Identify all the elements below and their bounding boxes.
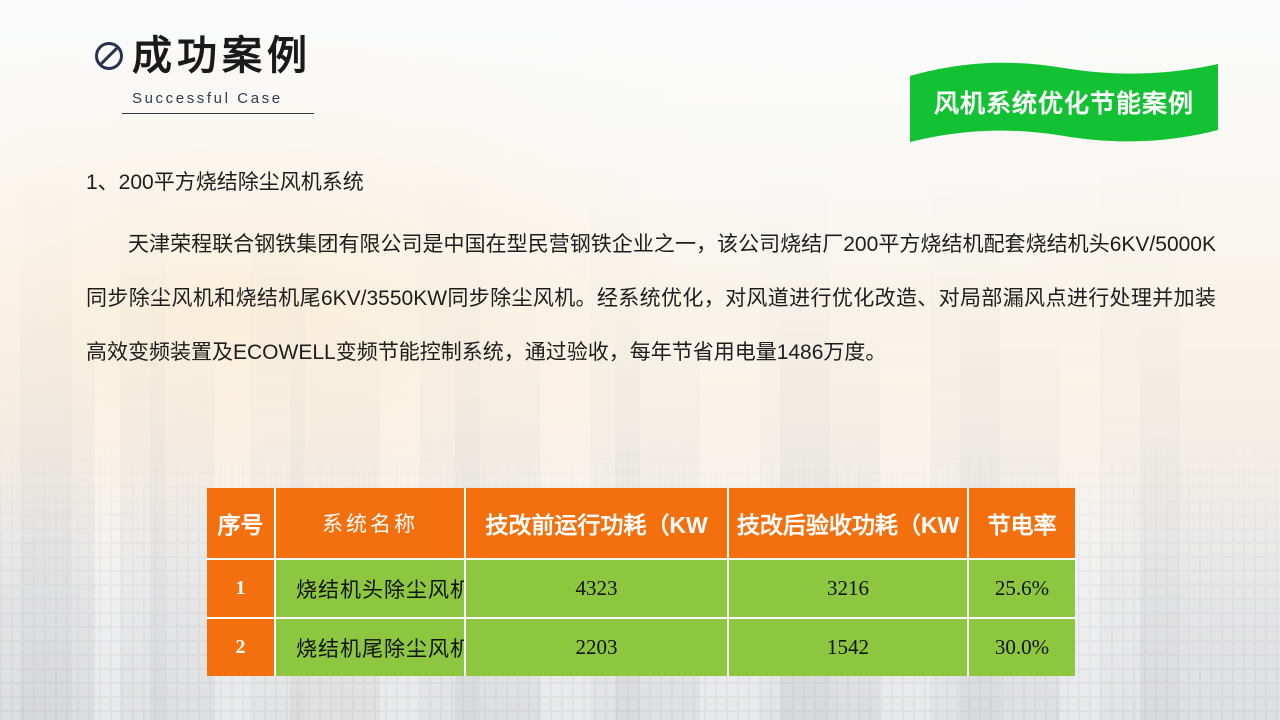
row-name: 烧结机尾除尘风机 — [276, 619, 466, 676]
table-row: 1 烧结机头除尘风机 4323 3216 25.6% — [207, 560, 1075, 619]
table-header-before: 技改前运行功耗（KW — [466, 488, 729, 560]
table-row: 2 烧结机尾除尘风机 2203 1542 30.0% — [207, 619, 1075, 676]
table-header-after: 技改后验收功耗（KW — [729, 488, 969, 560]
row-index: 1 — [207, 560, 276, 619]
row-saving: 25.6% — [969, 560, 1075, 619]
row-before: 2203 — [466, 619, 729, 676]
title-underline — [122, 113, 314, 114]
row-after: 1542 — [729, 619, 969, 676]
row-saving: 30.0% — [969, 619, 1075, 676]
page-title: 成功案例 — [132, 36, 312, 76]
body-copy: 1、200平方烧结除尘风机系统 天津荣程联合钢铁集团有限公司是中国在型民营钢铁企… — [86, 168, 1216, 380]
section-paragraph: 天津荣程联合钢铁集团有限公司是中国在型民营钢铁企业之一，该公司烧结厂200平方烧… — [86, 218, 1216, 380]
row-name: 烧结机头除尘风机 — [276, 560, 466, 619]
row-before: 4323 — [466, 560, 729, 619]
presentation-slide: 成功案例 Successful Case 风机系统优化节能案例 1、200平方烧… — [0, 0, 1280, 720]
page-subtitle: Successful Case — [132, 90, 422, 107]
row-after: 3216 — [729, 560, 969, 619]
ribbon-label: 风机系统优化节能案例 — [906, 84, 1222, 120]
table-header-saving: 节电率 — [969, 488, 1075, 560]
circle-slash-icon — [92, 39, 126, 73]
results-table: 序号 系统名称 技改前运行功耗（KW 技改后验收功耗（KW 节电率 1 烧结机头… — [207, 488, 1075, 676]
table-header-name: 系统名称 — [276, 488, 466, 560]
ribbon-banner: 风机系统优化节能案例 — [906, 62, 1222, 146]
row-index: 2 — [207, 619, 276, 676]
table-header-row: 序号 系统名称 技改前运行功耗（KW 技改后验收功耗（KW 节电率 — [207, 488, 1075, 560]
table-header-index: 序号 — [207, 488, 276, 560]
title-row: 成功案例 — [92, 36, 422, 76]
section-heading: 1、200平方烧结除尘风机系统 — [86, 168, 1216, 198]
slide-title-block: 成功案例 Successful Case — [92, 36, 422, 114]
